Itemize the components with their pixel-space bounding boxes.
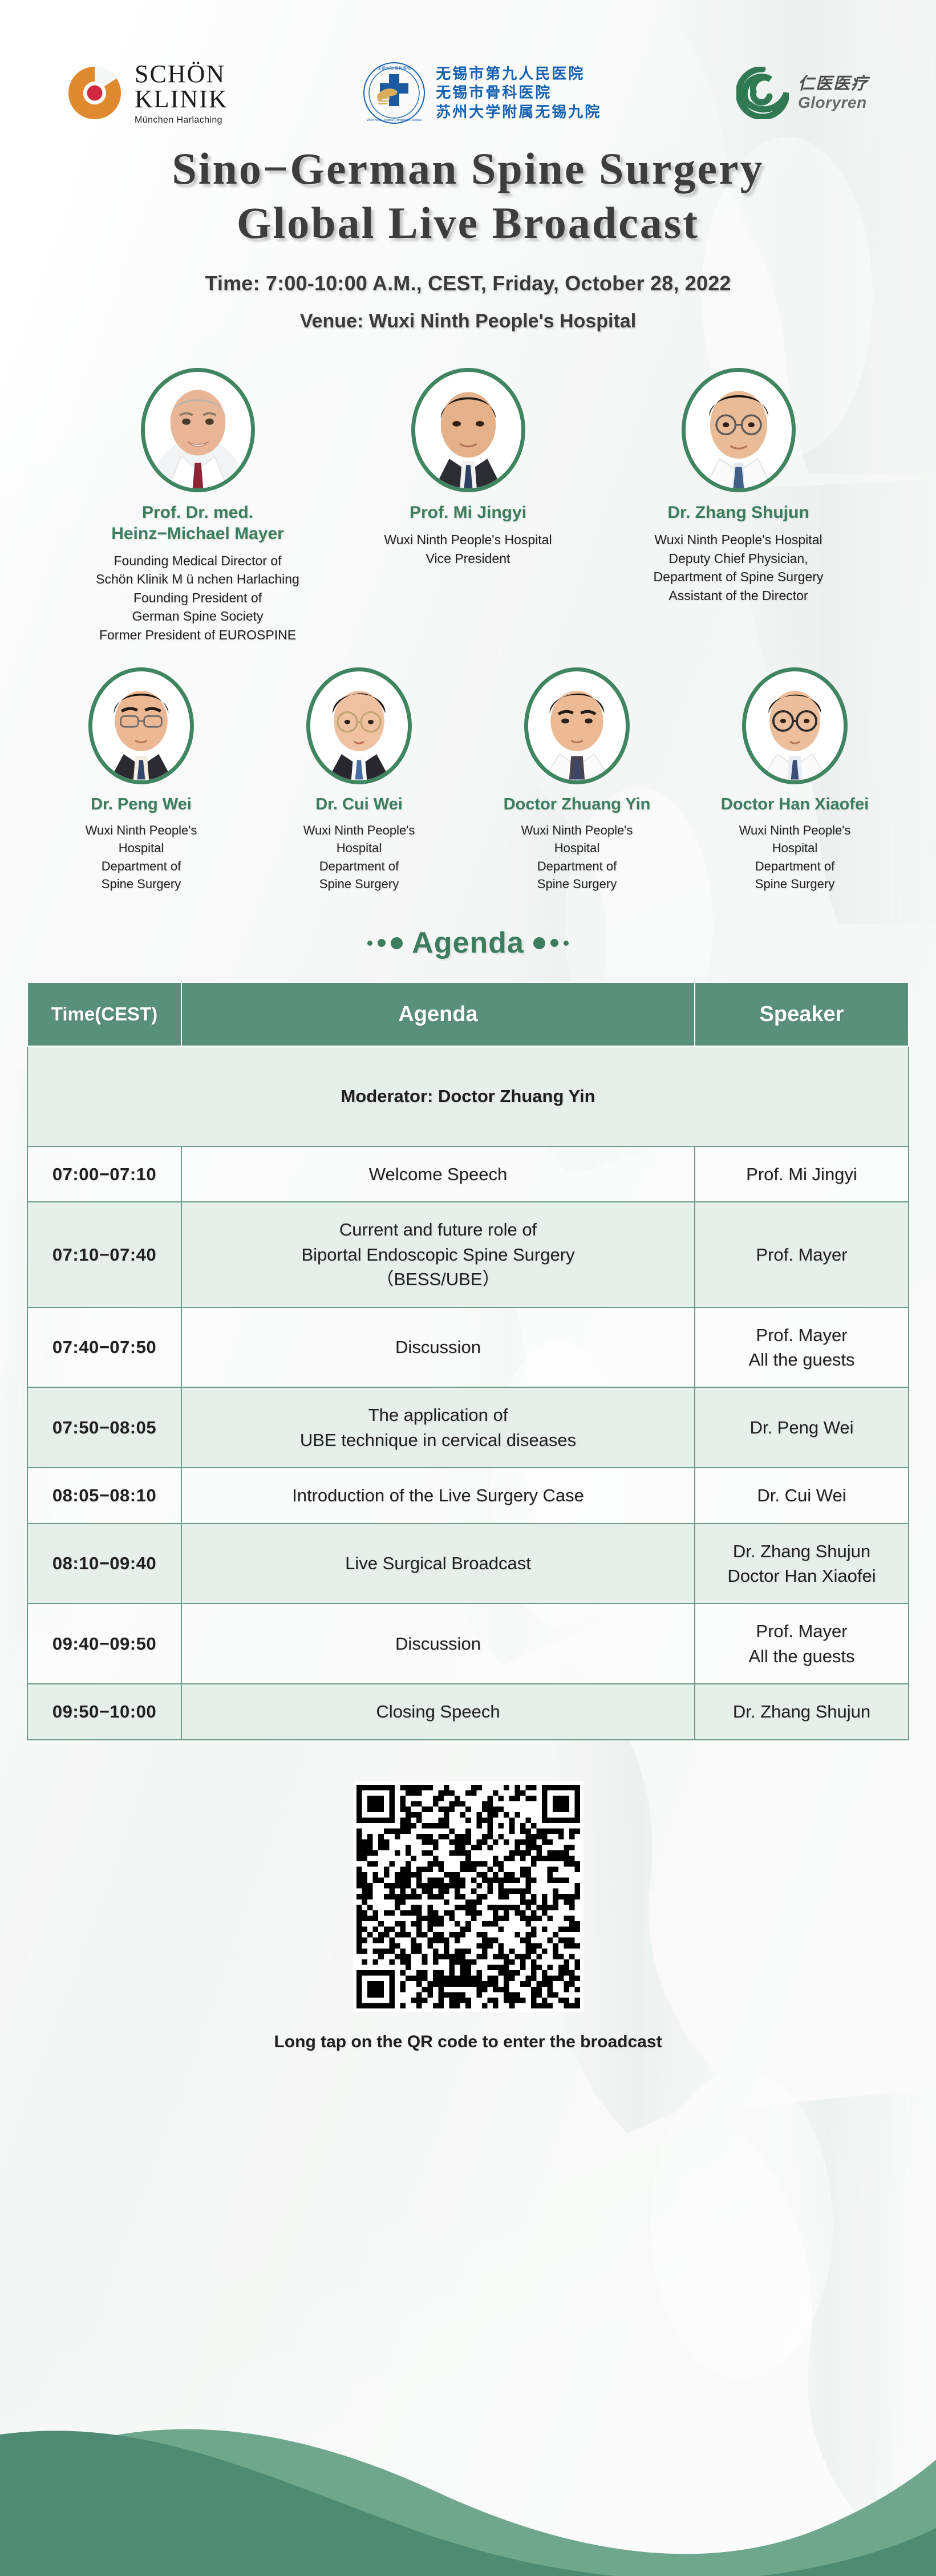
- affiliation-line: Wuxi Ninth People's Hospital: [627, 530, 850, 549]
- wuxi-hospital-name-line2: 无锡市骨科医院: [436, 83, 601, 102]
- speaker-card-peng-wei: Dr. Peng Wei Wuxi Ninth People's Hospita…: [43, 667, 240, 893]
- speaker-name: Dr. Peng Wei: [43, 795, 240, 815]
- agenda-line: Welcome Speech: [190, 1162, 686, 1186]
- speaker-line: Dr. Peng Wei: [703, 1415, 900, 1440]
- avatar: [524, 667, 630, 784]
- wuxi-hospital-name-line1: 无锡市第九人民医院: [436, 64, 601, 83]
- table-row: 08:05−08:10 Introduction of the Live Sur…: [27, 1468, 909, 1523]
- page-title: Sino−German Spine Surgery Global Live Br…: [0, 141, 936, 250]
- avatar: [306, 667, 412, 784]
- qr-section: Long tap on the QR code to enter the bro…: [0, 1781, 936, 2052]
- svg-text:Wuxi Ninth Hospital Orthopedic: Wuxi Ninth Hospital Orthopedic Hospital: [367, 119, 422, 122]
- logo-wuxi-ninth-hospital: 无锡九院 骨科医院 Wuxi Ninth Hospital Orthopedic…: [363, 62, 601, 124]
- table-row: 07:50−08:05 The application of UBE techn…: [27, 1387, 909, 1468]
- speaker-affiliation: Wuxi Ninth People's Hospital Vice Presid…: [357, 530, 580, 568]
- affiliation-line: Wuxi Ninth People's: [261, 821, 458, 839]
- affiliation-line: Department of Spine Surgery: [627, 568, 850, 586]
- cell-speaker: Prof. Mi Jingyi: [695, 1147, 909, 1202]
- speakers-row-primary: Prof. Dr. med. Heinz−Michael Mayer Found…: [0, 368, 936, 644]
- speaker-affiliation: Wuxi Ninth People's Hospital Department …: [479, 821, 676, 893]
- affiliation-line: Department of: [696, 857, 894, 875]
- logo-bar: SCHÖN KLINIK München Harlaching 无锡九院 骨科医…: [0, 0, 936, 137]
- page-title-line1: Sino−German Spine Surgery: [0, 141, 936, 196]
- agenda-section-heading: Agenda: [0, 926, 936, 960]
- wuxi-hospital-name-line3: 苏州大学附属无锡九院: [436, 103, 601, 121]
- cell-speaker: Prof. Mayer All the guests: [695, 1603, 909, 1684]
- cell-speaker: Prof. Mayer All the guests: [695, 1307, 909, 1388]
- table-row: 07:10−07:40 Current and future role of B…: [27, 1202, 909, 1307]
- cell-agenda: Discussion: [181, 1603, 695, 1684]
- column-header-time: Time(CEST): [27, 982, 181, 1046]
- decorative-dots-left: [367, 937, 403, 949]
- cell-speaker: Dr. Peng Wei: [695, 1387, 909, 1468]
- speaker-line: All the guests: [703, 1347, 900, 1372]
- cell-time: 07:40−07:50: [27, 1307, 181, 1388]
- cell-time: 07:10−07:40: [27, 1202, 181, 1307]
- speaker-line: Doctor Han Xiaofei: [703, 1564, 900, 1588]
- avatar: [411, 368, 525, 492]
- gloryren-english-name: Gloryren: [798, 94, 869, 111]
- cell-agenda: Live Surgical Broadcast: [181, 1524, 695, 1604]
- speaker-affiliation: Wuxi Ninth People's Hospital Department …: [261, 821, 458, 893]
- wuxi-ninth-hospital-seal-icon: 无锡九院 骨科医院 Wuxi Ninth Hospital Orthopedic…: [363, 62, 426, 124]
- speaker-affiliation: Wuxi Ninth People's Hospital Department …: [696, 821, 894, 893]
- affiliation-line: Hospital: [43, 839, 240, 857]
- table-row: 07:00−07:10 Welcome Speech Prof. Mi Jing…: [27, 1147, 909, 1202]
- speaker-affiliation: Wuxi Ninth People's Hospital Department …: [43, 821, 240, 893]
- agenda-line: （BESS/UBE）: [190, 1267, 686, 1291]
- avatar: [141, 368, 255, 492]
- affiliation-line: Schön Klinik M ü nchen Harlaching: [87, 570, 309, 589]
- agenda-line: Discussion: [190, 1631, 686, 1656]
- moderator-label: Moderator: Doctor Zhuang Yin: [27, 1046, 909, 1147]
- logo-schoen-klinik: SCHÖN KLINIK München Harlaching: [67, 62, 228, 125]
- cell-agenda: Closing Speech: [181, 1684, 695, 1739]
- cell-time: 09:50−10:00: [27, 1684, 181, 1739]
- cell-agenda: Introduction of the Live Surgery Case: [181, 1468, 695, 1523]
- affiliation-line: Department of: [43, 857, 240, 875]
- cell-time: 07:00−07:10: [27, 1147, 181, 1202]
- speaker-name: Dr. Cui Wei: [261, 795, 458, 815]
- cell-agenda: Current and future role of Biportal Endo…: [181, 1202, 695, 1307]
- cell-time: 09:40−09:50: [27, 1603, 181, 1684]
- cell-speaker: Dr. Cui Wei: [695, 1468, 909, 1523]
- speaker-name: Doctor Han Xiaofei: [696, 795, 894, 815]
- agenda-line: Closing Speech: [190, 1699, 686, 1724]
- schoen-klinik-wordmark-line2: KLINIK: [135, 87, 228, 112]
- affiliation-line: Spine Surgery: [696, 875, 894, 893]
- affiliation-line: German Spine Society: [87, 607, 309, 626]
- svg-text:无锡九院 骨科医院: 无锡九院 骨科医院: [378, 66, 411, 71]
- speaker-card-zhuang-yin: Doctor Zhuang Yin Wuxi Ninth People's Ho…: [479, 667, 676, 893]
- table-row: 09:50−10:00 Closing Speech Dr. Zhang Shu…: [27, 1684, 909, 1739]
- speaker-card-cui-wei: Dr. Cui Wei Wuxi Ninth People's Hospital…: [261, 667, 458, 893]
- agenda-heading-label: Agenda: [412, 926, 524, 960]
- cell-speaker: Dr. Zhang Shujun Doctor Han Xiaofei: [695, 1524, 909, 1604]
- affiliation-line: Founding Medical Director of: [87, 552, 309, 570]
- cell-time: 08:05−08:10: [27, 1468, 181, 1523]
- affiliation-line: Deputy Chief Physician,: [627, 549, 850, 568]
- cell-speaker: Prof. Mayer: [695, 1202, 909, 1307]
- footer-wave-decoration: [0, 2405, 936, 2576]
- affiliation-line: Founding President of: [87, 589, 309, 607]
- agenda-line: Biportal Endoscopic Spine Surgery: [190, 1242, 686, 1267]
- speaker-card-mayer: Prof. Dr. med. Heinz−Michael Mayer Found…: [87, 368, 309, 644]
- gloryren-swirl-icon: [736, 67, 789, 119]
- speaker-name: Dr. Zhang Shujun: [627, 503, 850, 524]
- speaker-name-line1: Dr. Zhang Shujun: [667, 503, 809, 522]
- agenda-table-header-row: Time(CEST) Agenda Speaker: [27, 982, 909, 1046]
- affiliation-line: Former President of EUROSPINE: [87, 626, 309, 645]
- qr-caption: Long tap on the QR code to enter the bro…: [0, 2032, 936, 2052]
- cell-time: 08:10−09:40: [27, 1524, 181, 1604]
- agenda-line: UBE technique in cervical diseases: [190, 1428, 686, 1452]
- speaker-name-line1: Prof. Mi Jingyi: [410, 503, 526, 522]
- affiliation-line: Wuxi Ninth People's: [479, 821, 676, 839]
- cell-agenda: The application of UBE technique in cerv…: [181, 1387, 695, 1468]
- schoen-klinik-wordmark-line1: SCHÖN: [135, 62, 228, 87]
- qr-code-icon[interactable]: [353, 1781, 584, 2012]
- agenda-line: Live Surgical Broadcast: [190, 1551, 686, 1575]
- logo-gloryren: 仁医医疗 Gloryren: [736, 67, 869, 119]
- schoen-klinik-location: München Harlaching: [135, 116, 228, 125]
- conference-poster: SCHÖN KLINIK München Harlaching 无锡九院 骨科医…: [0, 0, 936, 2576]
- speakers-row-secondary: Dr. Peng Wei Wuxi Ninth People's Hospita…: [0, 667, 936, 893]
- affiliation-line: Wuxi Ninth People's Hospital: [357, 530, 580, 549]
- speaker-name: Prof. Dr. med. Heinz−Michael Mayer: [87, 503, 309, 544]
- avatar: [742, 667, 848, 784]
- title-block: Sino−German Spine Surgery Global Live Br…: [0, 141, 936, 333]
- agenda-line: Current and future role of: [190, 1217, 686, 1242]
- column-header-agenda: Agenda: [181, 982, 695, 1046]
- affiliation-line: Department of: [479, 857, 676, 875]
- agenda-line: Discussion: [190, 1335, 686, 1359]
- event-time: Time: 7:00-10:00 A.M., CEST, Friday, Oct…: [0, 272, 936, 295]
- speaker-line: Prof. Mayer: [703, 1619, 900, 1643]
- agenda-table: Time(CEST) Agenda Speaker Moderator: Doc…: [27, 982, 909, 1740]
- speaker-card-han-xiaofei: Doctor Han Xiaofei Wuxi Ninth People's H…: [696, 667, 894, 893]
- affiliation-line: Spine Surgery: [43, 875, 240, 893]
- page-title-line2: Global Live Broadcast: [0, 196, 936, 250]
- speaker-card-zhang-shujun: Dr. Zhang Shujun Wuxi Ninth People's Hos…: [627, 368, 850, 644]
- speaker-line: All the guests: [703, 1644, 900, 1668]
- speaker-line: Prof. Mayer: [703, 1242, 900, 1267]
- agenda-line: Introduction of the Live Surgery Case: [190, 1483, 686, 1508]
- speaker-name-line2: Heinz−Michael Mayer: [111, 524, 284, 543]
- agenda-moderator-row: Moderator: Doctor Zhuang Yin: [27, 1046, 909, 1147]
- affiliation-line: Vice President: [357, 549, 580, 568]
- cell-time: 07:50−08:05: [27, 1387, 181, 1468]
- column-header-speaker: Speaker: [695, 982, 909, 1046]
- schoen-klinik-mark-icon: [67, 66, 122, 120]
- speaker-affiliation: Founding Medical Director of Schön Klini…: [87, 552, 309, 645]
- affiliation-line: Hospital: [696, 839, 894, 857]
- avatar: [88, 667, 194, 784]
- speaker-line: Dr. Zhang Shujun: [703, 1699, 900, 1724]
- affiliation-line: Spine Surgery: [261, 875, 458, 893]
- table-row: 07:40−07:50 Discussion Prof. Mayer All t…: [27, 1307, 909, 1388]
- cell-speaker: Dr. Zhang Shujun: [695, 1684, 909, 1739]
- event-venue: Venue: Wuxi Ninth People's Hospital: [0, 310, 936, 333]
- agenda-line: The application of: [190, 1403, 686, 1427]
- speaker-name: Prof. Mi Jingyi: [357, 503, 580, 524]
- speaker-line: Dr. Cui Wei: [703, 1483, 900, 1508]
- speaker-line: Prof. Mi Jingyi: [703, 1162, 900, 1186]
- table-row: 09:40−09:50 Discussion Prof. Mayer All t…: [27, 1603, 909, 1684]
- decorative-dots-right: [533, 937, 569, 949]
- speaker-card-mi-jingyi: Prof. Mi Jingyi Wuxi Ninth People's Hosp…: [357, 368, 580, 644]
- affiliation-line: Assistant of the Director: [627, 586, 850, 605]
- affiliation-line: Spine Surgery: [479, 875, 676, 893]
- speaker-name: Doctor Zhuang Yin: [479, 795, 676, 815]
- affiliation-line: Department of: [261, 857, 458, 875]
- affiliation-line: Wuxi Ninth People's: [696, 821, 894, 839]
- table-row: 08:10−09:40 Live Surgical Broadcast Dr. …: [27, 1524, 909, 1604]
- speaker-line: Prof. Mayer: [703, 1323, 900, 1347]
- gloryren-chinese-name: 仁医医疗: [798, 75, 869, 93]
- affiliation-line: Hospital: [261, 839, 458, 857]
- speaker-affiliation: Wuxi Ninth People's Hospital Deputy Chie…: [627, 530, 850, 605]
- avatar: [682, 368, 796, 492]
- speaker-name-line1: Prof. Dr. med.: [142, 503, 253, 522]
- cell-agenda: Welcome Speech: [181, 1147, 695, 1202]
- affiliation-line: Hospital: [479, 839, 676, 857]
- cell-agenda: Discussion: [181, 1307, 695, 1388]
- speaker-line: Dr. Zhang Shujun: [703, 1539, 900, 1564]
- affiliation-line: Wuxi Ninth People's: [43, 821, 240, 839]
